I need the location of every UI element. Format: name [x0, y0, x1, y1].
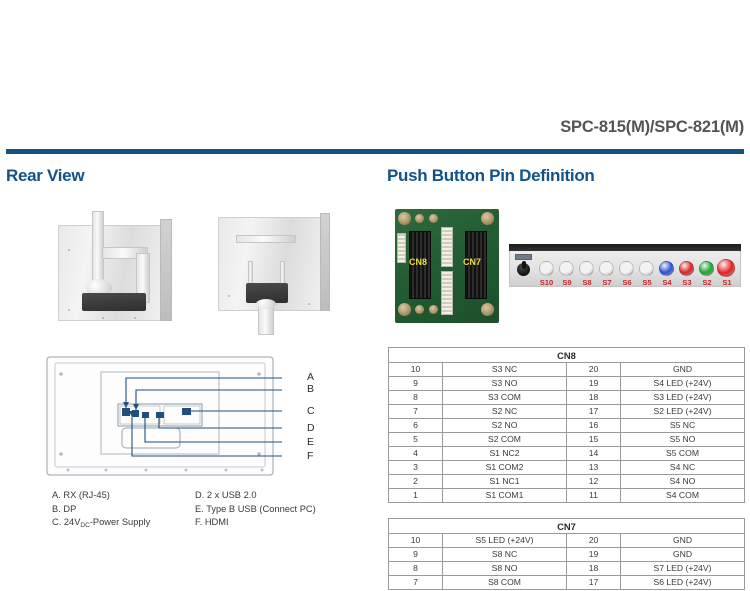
pin-number-cell: 14 [567, 447, 621, 461]
panel-brand-tag [515, 254, 532, 260]
push-button-label-s3: S3 [677, 278, 697, 287]
pin-signal-cell: S1 NC2 [443, 447, 567, 461]
pin-number-cell: 8 [389, 391, 443, 405]
pin-number-cell: 13 [567, 461, 621, 475]
push-button-s2 [699, 261, 714, 276]
pin-number-cell: 8 [389, 562, 443, 576]
pin-number-cell: 1 [389, 489, 443, 503]
pin-number-cell: 3 [389, 461, 443, 475]
pin-number-cell: 7 [389, 576, 443, 590]
table-row: 5S2 COM15S5 NO [389, 433, 745, 447]
pin-signal-cell: S4 COM [621, 489, 745, 503]
pin-number-cell: 9 [389, 548, 443, 562]
pin-signal-cell: S5 NO [621, 433, 745, 447]
legend-item-b: B. DP [52, 503, 150, 517]
rear-panel-diagram [46, 356, 292, 478]
pin-number-cell: 19 [567, 548, 621, 562]
push-button-label-s2: S2 [697, 278, 717, 287]
pcb-label-cn8: CN8 [409, 257, 427, 267]
pin-signal-cell: S1 COM2 [443, 461, 567, 475]
table-row: 3S1 COM213S4 NC [389, 461, 745, 475]
legend-column-right: D. 2 x USB 2.0 E. Type B USB (Connect PC… [195, 489, 316, 530]
pin-signal-cell: S6 LED (+24V) [621, 576, 745, 590]
push-button-s1 [717, 259, 735, 277]
table-row: 7S2 NC17S2 LED (+24V) [389, 405, 745, 419]
table-row: 1S1 COM111S4 COM [389, 489, 745, 503]
pin-signal-cell: S1 COM1 [443, 489, 567, 503]
callout-letter-d: D [307, 423, 315, 434]
pin-signal-cell: S3 COM [443, 391, 567, 405]
table-row: 7S8 COM17S6 LED (+24V) [389, 576, 745, 590]
pin-signal-cell: S3 NC [443, 363, 567, 377]
pin-signal-cell: S3 LED (+24V) [621, 391, 745, 405]
pin-number-cell: 6 [389, 419, 443, 433]
push-button-label-s1: S1 [717, 278, 737, 287]
callout-letter-f: F [307, 451, 313, 462]
callout-letter-e: E [307, 437, 314, 448]
pin-signal-cell: S8 COM [443, 576, 567, 590]
pin-signal-cell: GND [621, 548, 745, 562]
pin-signal-cell: S5 COM [621, 447, 745, 461]
table-row: 2S1 NC112S4 NO [389, 475, 745, 489]
callout-letter-a: A [307, 372, 314, 383]
push-button-s8 [579, 261, 594, 276]
pin-number-cell: 20 [567, 363, 621, 377]
pin-number-cell: 20 [567, 534, 621, 548]
pin-table-cn7-header: CN7 [389, 519, 745, 534]
push-button-s10 [539, 261, 554, 276]
callout-letter-b: B [307, 384, 314, 395]
header-divider-rule [6, 149, 744, 154]
document-title: SPC-815(M)/SPC-821(M) [560, 118, 744, 137]
push-button-s4 [659, 261, 674, 276]
pin-signal-cell: S4 LED (+24V) [621, 377, 745, 391]
pcb-photo: CN8 CN7 [389, 205, 505, 327]
legend-item-d: D. 2 x USB 2.0 [195, 489, 316, 503]
pin-signal-cell: S8 NC [443, 548, 567, 562]
push-button-s3 [679, 261, 694, 276]
pin-signal-cell: S1 NC1 [443, 475, 567, 489]
table-row: 9S8 NC19GND [389, 548, 745, 562]
legend-item-a: A. RX (RJ-45) [52, 489, 150, 503]
pin-number-cell: 4 [389, 447, 443, 461]
legend-item-e: E. Type B USB (Connect PC) [195, 503, 316, 517]
pin-number-cell: 15 [567, 433, 621, 447]
pin-number-cell: 12 [567, 475, 621, 489]
pin-signal-cell: GND [621, 363, 745, 377]
push-button-label-s7: S7 [597, 278, 617, 287]
pin-number-cell: 2 [389, 475, 443, 489]
rear-view-photo-wall-mount [46, 205, 194, 333]
pin-number-cell: 11 [567, 489, 621, 503]
pin-number-cell: 18 [567, 562, 621, 576]
push-button-label-s6: S6 [617, 278, 637, 287]
push-button-s5 [639, 261, 654, 276]
push-button-label-s5: S5 [637, 278, 657, 287]
push-button-panel-photo: S10 S9 S8 S7 S6 S5 S4 S3 S2 S1 [509, 244, 741, 294]
pin-signal-cell: S4 NC [621, 461, 745, 475]
panel-selector-knob [517, 263, 530, 276]
pin-signal-cell: S2 NC [443, 405, 567, 419]
pin-signal-cell: GND [621, 534, 745, 548]
pin-number-cell: 7 [389, 405, 443, 419]
pin-signal-cell: S5 LED (+24V) [443, 534, 567, 548]
pin-signal-cell: S2 COM [443, 433, 567, 447]
pin-signal-cell: S5 NC [621, 419, 745, 433]
push-button-s6 [619, 261, 634, 276]
table-row: 8S3 COM18S3 LED (+24V) [389, 391, 745, 405]
rear-view-photo-stand-mount [208, 203, 338, 335]
legend-item-c: C. 24VDC-Power Supply [52, 516, 150, 531]
pin-number-cell: 18 [567, 391, 621, 405]
legend-column-left: A. RX (RJ-45) B. DP C. 24VDC-Power Suppl… [52, 489, 150, 531]
pin-number-cell: 17 [567, 405, 621, 419]
pin-signal-cell: S3 NO [443, 377, 567, 391]
push-button-label-s10: S10 [535, 278, 558, 287]
section-title-rear-view: Rear View [6, 166, 84, 186]
pin-signal-cell: S2 LED (+24V) [621, 405, 745, 419]
table-row: 10S5 LED (+24V)20GND [389, 534, 745, 548]
rear-panel-callout-letters: A B C D E F [307, 356, 327, 478]
pin-number-cell: 10 [389, 363, 443, 377]
push-button-label-s9: S9 [557, 278, 577, 287]
pin-number-cell: 16 [567, 419, 621, 433]
pin-number-cell: 19 [567, 377, 621, 391]
pin-number-cell: 17 [567, 576, 621, 590]
pcb-label-cn7: CN7 [463, 257, 481, 267]
push-button-s9 [559, 261, 574, 276]
pin-signal-cell: S4 NO [621, 475, 745, 489]
pin-signal-cell: S7 LED (+24V) [621, 562, 745, 576]
pin-signal-cell: S2 NO [443, 419, 567, 433]
legend-item-f: F. HDMI [195, 516, 316, 530]
table-row: 10S3 NC20GND [389, 363, 745, 377]
callout-letter-c: C [307, 406, 315, 417]
pin-table-cn7: CN7 10S5 LED (+24V)20GND9S8 NC19GND8S8 N… [388, 518, 745, 590]
table-row: 6S2 NO16S5 NC [389, 419, 745, 433]
push-button-label-s4: S4 [657, 278, 677, 287]
pin-number-cell: 9 [389, 377, 443, 391]
push-button-s7 [599, 261, 614, 276]
table-row: 9S3 NO19S4 LED (+24V) [389, 377, 745, 391]
pin-number-cell: 5 [389, 433, 443, 447]
table-row: 8S8 NO18S7 LED (+24V) [389, 562, 745, 576]
push-button-label-s8: S8 [577, 278, 597, 287]
pin-signal-cell: S8 NO [443, 562, 567, 576]
pin-table-cn8: CN8 10S3 NC20GND9S3 NO19S4 LED (+24V)8S3… [388, 347, 745, 503]
pin-table-cn8-header: CN8 [389, 348, 745, 363]
table-row: 4S1 NC214S5 COM [389, 447, 745, 461]
pin-number-cell: 10 [389, 534, 443, 548]
section-title-push-button: Push Button Pin Definition [387, 166, 595, 186]
